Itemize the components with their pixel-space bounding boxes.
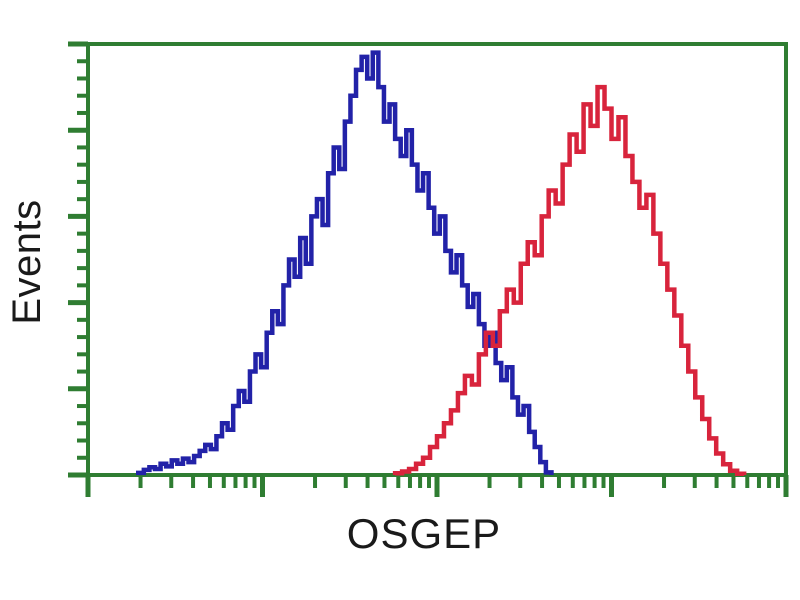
histogram-plot: Events OSGEP — [0, 0, 800, 600]
x-axis-title: OSGEP — [347, 510, 501, 557]
y-axis-title: Events — [5, 199, 49, 324]
flow-cytometry-figure: Events OSGEP — [0, 0, 800, 600]
plot-area — [88, 44, 788, 475]
